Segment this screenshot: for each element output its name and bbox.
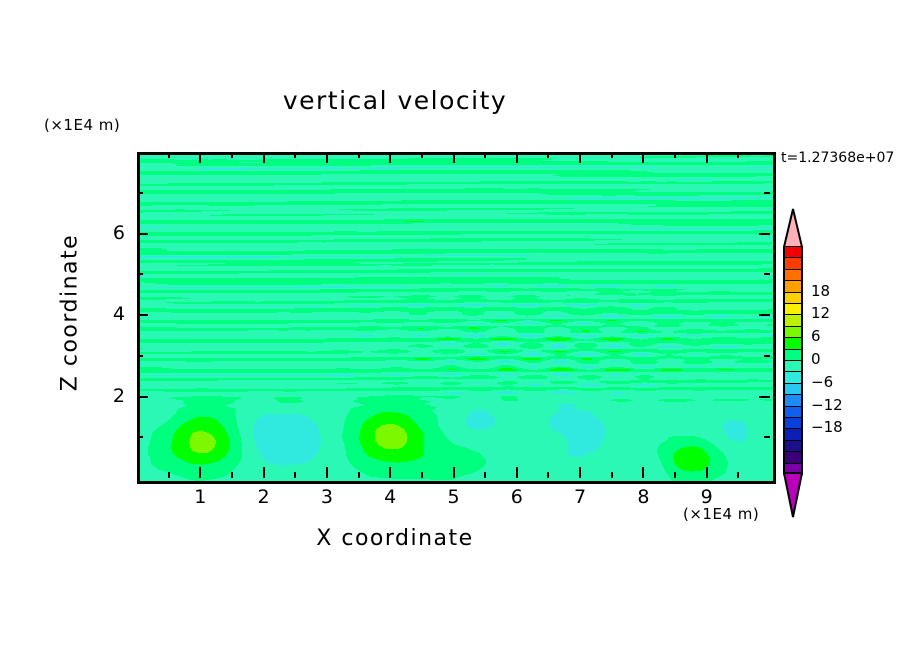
colorbar-tick-label: 12	[811, 304, 830, 322]
colorbar	[783, 246, 803, 474]
y-tick-right-minor	[764, 273, 770, 275]
x-tick-major	[516, 467, 518, 478]
y-tick-major	[137, 314, 148, 316]
x-tick-minor	[231, 472, 233, 478]
x-tick-label: 3	[307, 486, 347, 508]
x-tick-label: 9	[687, 486, 727, 508]
y-tick-minor	[137, 436, 143, 438]
y-tick-minor	[137, 273, 143, 275]
colorbar-tick-label: −12	[811, 396, 843, 414]
x-tick-major	[326, 467, 328, 478]
x-tick-top-major	[516, 152, 518, 163]
x-tick-top-minor	[421, 152, 423, 158]
x-tick-major	[706, 467, 708, 478]
x-tick-label: 5	[434, 486, 474, 508]
y-tick-label: 2	[85, 385, 125, 407]
x-tick-minor	[358, 472, 360, 478]
x-tick-top-major	[326, 152, 328, 163]
y-tick-major	[137, 233, 148, 235]
x-tick-minor	[737, 472, 739, 478]
x-tick-top-major	[706, 152, 708, 163]
colorbar-tick-label: 0	[811, 350, 821, 368]
x-tick-top-minor	[168, 152, 170, 158]
chart-title: vertical velocity	[0, 86, 790, 115]
y-tick-right-major	[759, 314, 770, 316]
x-tick-label: 4	[370, 486, 410, 508]
y-tick-right-minor	[764, 355, 770, 357]
x-tick-top-major	[579, 152, 581, 163]
colorbar-tick-label: 18	[811, 282, 830, 300]
timestamp-label: t=1.27368e+07	[781, 150, 894, 166]
x-tick-top-major	[263, 152, 265, 163]
colorbar-tick-label: −6	[811, 373, 833, 391]
x-tick-minor	[547, 472, 549, 478]
y-axis-unit-label: (×1E4 m)	[44, 116, 120, 134]
contour-plot-area	[137, 152, 776, 484]
x-tick-minor	[611, 472, 613, 478]
x-tick-top-minor	[294, 152, 296, 158]
x-tick-minor	[168, 472, 170, 478]
x-tick-top-minor	[484, 152, 486, 158]
x-tick-top-major	[199, 152, 201, 163]
x-tick-major	[642, 467, 644, 478]
y-tick-label: 6	[85, 222, 125, 244]
y-tick-minor	[137, 192, 143, 194]
y-tick-right-minor	[764, 436, 770, 438]
x-tick-top-major	[453, 152, 455, 163]
x-tick-top-minor	[358, 152, 360, 158]
y-tick-label: 4	[85, 303, 125, 325]
x-tick-major	[263, 467, 265, 478]
y-axis-title: Z coordinate	[58, 203, 83, 423]
x-tick-top-major	[389, 152, 391, 163]
x-tick-major	[199, 467, 201, 478]
x-tick-top-minor	[674, 152, 676, 158]
x-tick-top-minor	[611, 152, 613, 158]
y-tick-right-major	[759, 233, 770, 235]
colorbar-tick-label: 6	[811, 327, 821, 345]
x-tick-label: 8	[623, 486, 663, 508]
velocity-field-raster	[140, 155, 773, 481]
x-tick-top-minor	[231, 152, 233, 158]
y-tick-right-major	[759, 396, 770, 398]
colorbar-tick-label: −18	[811, 418, 843, 436]
colorbar-over-cap	[783, 208, 803, 248]
x-tick-label: 1	[180, 486, 220, 508]
x-tick-minor	[674, 472, 676, 478]
colorbar-under-cap	[783, 472, 803, 518]
x-tick-top-minor	[737, 152, 739, 158]
x-axis-title: X coordinate	[0, 526, 790, 551]
y-tick-right-minor	[764, 192, 770, 194]
x-tick-top-major	[642, 152, 644, 163]
x-tick-label: 6	[497, 486, 537, 508]
y-tick-minor	[137, 355, 143, 357]
x-tick-top-minor	[547, 152, 549, 158]
x-tick-minor	[484, 472, 486, 478]
x-tick-major	[579, 467, 581, 478]
x-tick-label: 7	[560, 486, 600, 508]
x-tick-label: 2	[244, 486, 284, 508]
x-tick-major	[389, 467, 391, 478]
x-tick-major	[453, 467, 455, 478]
x-tick-minor	[421, 472, 423, 478]
x-tick-minor	[294, 472, 296, 478]
y-tick-major	[137, 396, 148, 398]
